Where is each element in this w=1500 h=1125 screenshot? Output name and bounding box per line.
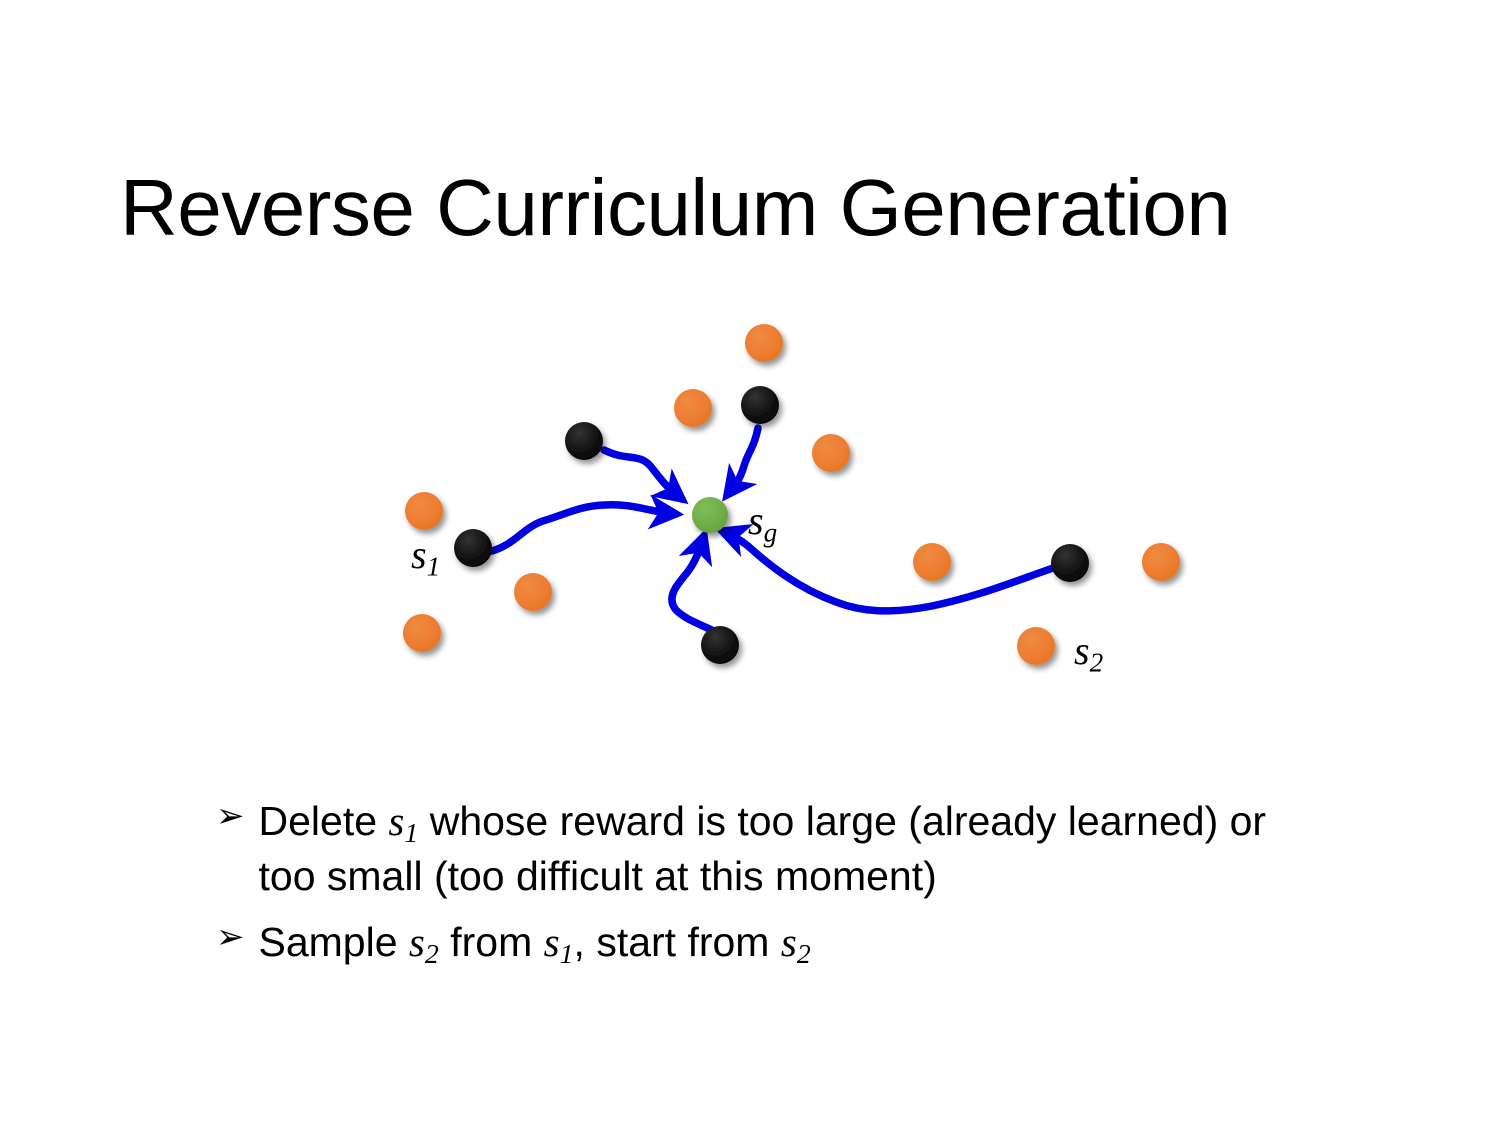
goal-state-label: sg	[748, 497, 777, 549]
bullet-text-sample: Sample s2 from s1, start from s2	[259, 917, 811, 972]
goal-state-node	[692, 497, 728, 533]
orange-state-node	[812, 434, 850, 472]
trajectory-path-s1	[492, 505, 676, 551]
bullet-text-delete: Delete s1 whose reward is too large (alr…	[259, 796, 1327, 903]
bullet-list: ➢ Delete s1 whose reward is too large (a…	[216, 796, 1326, 986]
orange-state-node	[1142, 543, 1180, 581]
list-item: ➢ Delete s1 whose reward is too large (a…	[216, 796, 1326, 903]
orange-state-node	[403, 614, 441, 652]
orange-state-node	[745, 324, 783, 362]
black-state-node	[741, 386, 779, 424]
black-state-node-s1	[454, 529, 492, 567]
orange-state-node	[913, 543, 951, 581]
slide-canvas: Reverse Curriculum Generation	[0, 0, 1500, 1125]
start-state-s2-label: s2	[1074, 627, 1103, 679]
black-state-node-s2	[1051, 544, 1089, 582]
trajectory-path-bottom	[672, 536, 716, 632]
orange-state-node	[674, 389, 712, 427]
black-state-node	[565, 422, 603, 460]
orange-state-node	[514, 573, 552, 611]
start-state-s1-label: s1	[411, 531, 440, 583]
black-state-node	[701, 626, 739, 664]
page-title: Reverse Curriculum Generation	[120, 166, 1230, 250]
orange-state-node	[1017, 627, 1055, 665]
bullet-arrow-icon: ➢	[216, 796, 245, 837]
list-item: ➢ Sample s2 from s1, start from s2	[216, 917, 1326, 972]
bullet-arrow-icon: ➢	[216, 917, 245, 958]
orange-state-node	[405, 492, 443, 530]
trajectory-path-topleft	[604, 450, 682, 499]
trajectory-path-topright	[727, 428, 758, 495]
